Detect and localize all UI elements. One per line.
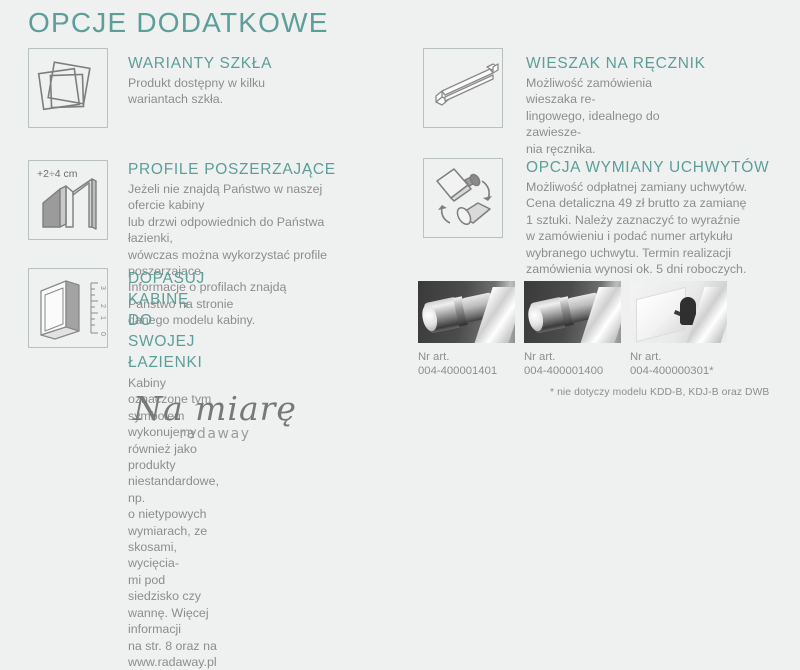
svg-text:0: 0 [99,332,106,336]
product-caption: Nr art. 004-400000301* [630,350,727,378]
feature-handle-title: OPCJA WYMIANY UCHWYTÓW [526,158,769,177]
handle-photo-light-3[interactable] [630,281,727,343]
svg-text:1: 1 [99,316,106,320]
page-root: OPCJE DODATKOWE WARIANTY SZKŁA Produkt d… [0,0,800,458]
feature-handle-text: OPCJA WYMIANY UCHWYTÓW Możliwość odpłatn… [526,158,769,277]
feature-cabin-text: DOPASUJ KABINĘ DO SWOJEJ ŁAZIENKI Kabiny… [128,268,219,670]
feature-handle-body: Możliwość odpłatnej zamiany uchwytów. Ce… [526,179,769,277]
handle-photo-dark-2[interactable] [524,281,621,343]
widening-profile-icon-label: +2÷4 cm [37,168,78,180]
product-item[interactable]: Nr art. 004-400001400 [524,281,621,378]
feature-towel-body: Możliwość zamówienia wieszaka re- lingow… [526,75,706,157]
feature-towel-title: WIESZAK NA RĘCZNIK [526,54,706,73]
feature-glass-text: WARIANTY SZKŁA Produkt dostępny w kilku … [128,54,272,108]
handle-photo-dark-1[interactable] [418,281,515,343]
glass-variants-icon [28,48,108,128]
custom-cabin-ruler-icon: 3 2 1 0 [28,268,108,348]
na-miare-logo: Na miarę radaway [115,390,315,442]
product-caption: Nr art. 004-400001400 [524,350,621,378]
widening-profile-icon: +2÷4 cm [28,160,108,240]
svg-text:3: 3 [99,286,106,290]
product-item[interactable]: Nr art. 004-400000301* [630,281,727,378]
towel-rail-icon [423,48,503,128]
feature-cabin-title: DOPASUJ KABINĘ DO SWOJEJ ŁAZIENKI [128,268,219,373]
product-caption: Nr art. 004-400001401 [418,350,515,378]
handle-exchange-icon [423,158,503,238]
product-item[interactable]: Nr art. 004-400001401 [418,281,515,378]
logo-brand-text: radaway [115,426,315,442]
product-footnote: * nie dotyczy modelu KDD-B, KDJ-B oraz D… [550,387,769,398]
feature-towel-text: WIESZAK NA RĘCZNIK Możliwość zamówienia … [526,54,706,157]
page-title: OPCJE DODATKOWE [28,7,329,39]
feature-profile-title: PROFILE POSZERZAJĄCE [128,160,336,179]
svg-text:2: 2 [99,304,106,308]
logo-script-text: Na miarę [115,390,315,428]
feature-glass-title: WARIANTY SZKŁA [128,54,272,73]
feature-glass-body: Produkt dostępny w kilku wariantach szkł… [128,75,272,108]
